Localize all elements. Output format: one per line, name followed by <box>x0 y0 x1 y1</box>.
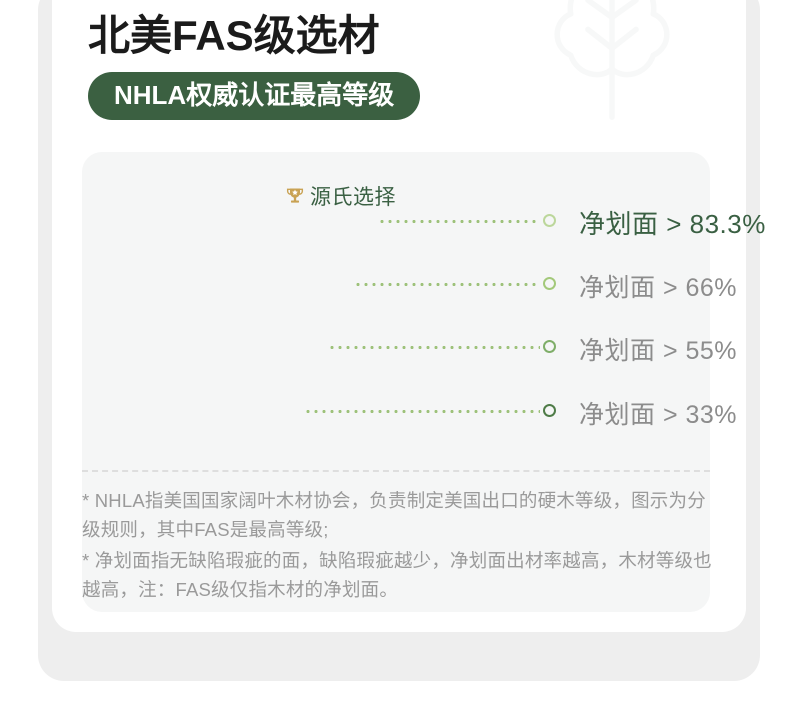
grade-threshold-label: 净划面 > 33% <box>579 395 737 431</box>
grade-threshold-label: 净划面 > 83.3% <box>579 204 766 241</box>
page-title: 北美FAS级选材 <box>88 8 420 64</box>
footnotes: * NHLA指美国国家阔叶木材协会，负责制定美国出口的硬木等级，图示为分级规则，… <box>82 486 722 606</box>
connector-dotted-line <box>378 220 540 223</box>
featured-label: 源氏选择 <box>310 181 396 211</box>
certification-badge: NHLA权威认证最高等级 <box>88 72 420 120</box>
connector-ring-marker <box>543 404 556 417</box>
featured-tag: 源氏选择 <box>285 181 396 211</box>
footnote-item: * 净划面指无缺陷瑕疵的面，缺陷瑕疵越少，净划面出材率越高，木材等级也越高，注：… <box>82 546 722 604</box>
heading-block: 北美FAS级选材 NHLA权威认证最高等级 <box>88 8 420 120</box>
footnote-item: * NHLA指美国国家阔叶木材协会，负责制定美国出口的硬木等级，图示为分级规则，… <box>82 486 722 544</box>
connector-ring-marker <box>543 277 556 290</box>
connector-dotted-line <box>328 346 540 349</box>
grade-threshold-label: 净划面 > 66% <box>579 268 737 304</box>
connector-ring-marker <box>543 340 556 353</box>
connector-ring-marker <box>543 214 556 227</box>
connector-dotted-line <box>304 410 540 413</box>
trophy-icon <box>285 186 305 206</box>
footnote-divider <box>82 470 710 472</box>
connector-dotted-line <box>354 283 540 286</box>
tree-icon <box>514 0 710 124</box>
grade-threshold-label: 净划面 > 55% <box>579 331 737 367</box>
